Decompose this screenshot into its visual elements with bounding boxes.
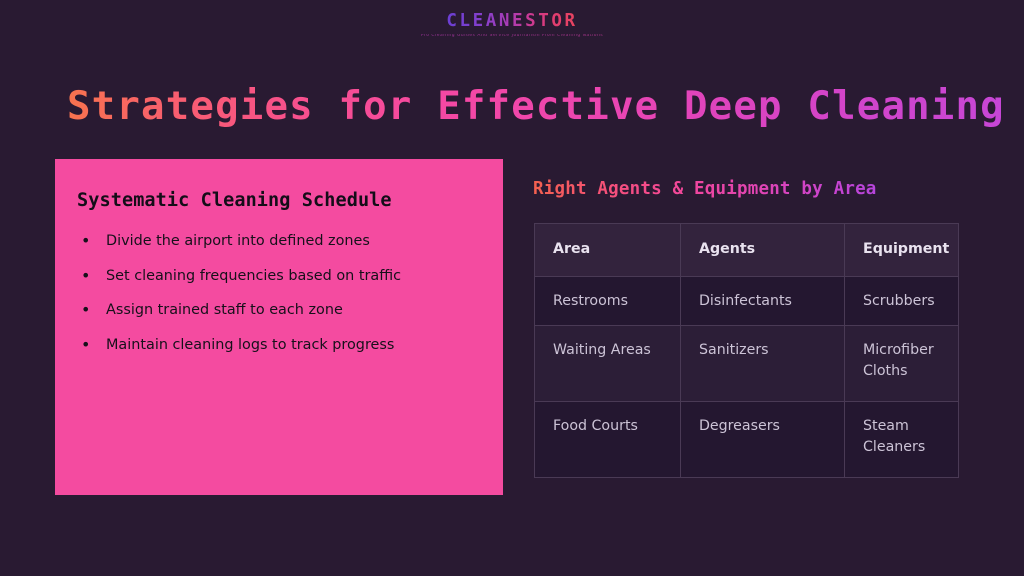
column-header-agents: Agents [681, 224, 845, 277]
column-header-equipment: Equipment [845, 224, 959, 277]
cell-agents: Degreasers [681, 402, 845, 478]
table-row: Restrooms Disinfectants Scrubbers [535, 276, 959, 326]
list-item: Maintain cleaning logs to track progress [77, 336, 477, 354]
table-row: Food Courts Degreasers Steam Cleaners [535, 402, 959, 478]
cell-area: Waiting Areas [535, 326, 681, 402]
schedule-card-title: Systematic Cleaning Schedule [77, 190, 477, 211]
cell-equipment: Scrubbers [845, 276, 959, 326]
page-title: Strategies for Effective Deep Cleaning [67, 84, 1005, 129]
cell-agents: Disinfectants [681, 276, 845, 326]
cell-area: Restrooms [535, 276, 681, 326]
agents-equipment-table: Area Agents Equipment Restrooms Disinfec… [534, 223, 959, 478]
schedule-card: Systematic Cleaning Schedule Divide the … [55, 159, 503, 495]
cell-equipment: Microfiber Cloths [845, 326, 959, 402]
schedule-bullet-list: Divide the airport into defined zones Se… [77, 232, 477, 354]
brand-logo: CLEANESTOR Pro Cleaning Guides And Servi… [0, 13, 1024, 38]
brand-wordmark: CLEANESTOR [446, 13, 577, 31]
cell-equipment: Steam Cleaners [845, 402, 959, 478]
list-item: Set cleaning frequencies based on traffi… [77, 267, 477, 285]
cell-area: Food Courts [535, 402, 681, 478]
cell-agents: Sanitizers [681, 326, 845, 402]
agents-section-heading: Right Agents & Equipment by Area [533, 179, 877, 199]
table-row: Waiting Areas Sanitizers Microfiber Clot… [535, 326, 959, 402]
brand-tagline: Pro Cleaning Guides And Service Journali… [0, 34, 1024, 38]
list-item: Assign trained staff to each zone [77, 301, 477, 319]
list-item: Divide the airport into defined zones [77, 232, 477, 250]
column-header-area: Area [535, 224, 681, 277]
table-header-row: Area Agents Equipment [535, 224, 959, 277]
